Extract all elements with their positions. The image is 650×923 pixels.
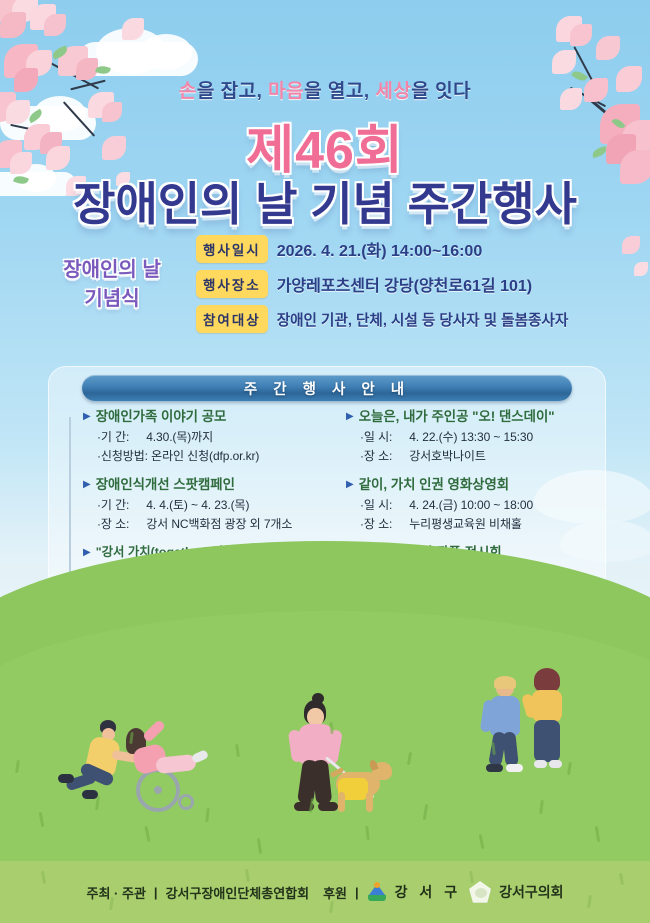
gangseo-council-logo-icon <box>469 881 491 903</box>
event-detail-value: 4. 22.(수) 13:30 ~ 15:30 <box>409 430 533 444</box>
page-title: 장애인의 날 기념 주간행사 <box>0 168 650 234</box>
event-title-row: ▶ 같이, 가치 인권 영화상영회 <box>346 477 595 494</box>
triangle-bullet-icon: ▶ <box>346 477 354 492</box>
footer-separator-2: | <box>355 885 359 900</box>
event-detail-key: ·신청방법: <box>97 447 148 464</box>
info-row-datetime: 행사일시 2026. 4. 21.(화) 14:00~16:00 <box>196 236 646 262</box>
event-item[interactable]: ▶ 장애인가족 이야기 공모 ·기 간: 4.30.(목)까지 ·신청방법: 온… <box>83 409 332 464</box>
gangseo-gu-logo-icon <box>367 882 387 902</box>
tagline-part-2: 을 잡고, <box>197 81 268 102</box>
event-title: 오늘은, 내가 주인공 "오! 댄스데이" <box>359 409 555 426</box>
event-detail-line: ·일 시: 4. 24.(금) 10:00 ~ 18:00 <box>360 496 595 513</box>
footer-sponsor-1: 강 서 구 <box>395 882 461 902</box>
event-detail-key: ·기 간: <box>97 428 143 445</box>
footer-sponsor-2: 강서구의회 <box>499 882 563 902</box>
tagline-part-6: 을 잇다 <box>411 81 471 102</box>
event-detail-value: 누리평생교육원 비채홀 <box>409 517 522 531</box>
footer-separator-1: | <box>154 885 158 900</box>
panel-header-text: 주 간 행 사 안 내 <box>244 378 410 399</box>
illustration-wheelchair-pair <box>60 710 220 830</box>
info-label-datetime: 행사일시 <box>196 235 268 263</box>
event-detail-value: 4. 24.(금) 10:00 ~ 18:00 <box>409 498 533 512</box>
ceremony-label-line1: 장애인의 날 <box>32 256 192 285</box>
tagline-part-5: 세상 <box>375 81 411 102</box>
triangle-bullet-icon: ▶ <box>83 477 91 492</box>
event-detail-value: 4.30.(목)까지 <box>146 430 213 444</box>
info-row-audience: 참여대상 장애인 기관, 단체, 시설 등 당사자 및 돌봄종사자 <box>196 306 646 332</box>
info-value-venue: 가양레포츠센터 강당(양천로61길 101) <box>277 272 532 296</box>
event-detail-value: 강서호박나이트 <box>409 449 486 463</box>
event-detail-key: ·일 시: <box>360 496 406 513</box>
event-item[interactable]: ▶ 같이, 가치 인권 영화상영회 ·일 시: 4. 24.(금) 10:00 … <box>346 477 595 532</box>
triangle-bullet-icon: ▶ <box>346 409 354 424</box>
illustration-guide-dog-walker <box>280 700 400 840</box>
event-detail-line: ·장 소: 강서 NC백화점 광장 외 7개소 <box>97 515 332 532</box>
footer-host-label: 주최 · 주관 <box>87 883 146 902</box>
footer-bar: 주최 · 주관 | 강서구장애인단체총연합회 후원 | 강 서 구 강서구의회 <box>0 861 650 923</box>
illustration-standing-person <box>524 672 584 782</box>
ceremony-label: 장애인의 날 기념식 <box>32 256 192 314</box>
event-item[interactable]: ▶ 오늘은, 내가 주인공 "오! 댄스데이" ·일 시: 4. 22.(수) … <box>346 409 595 464</box>
event-detail-line: ·기 간: 4. 4.(토) ~ 4. 23.(목) <box>97 496 332 513</box>
footer-credits: 주최 · 주관 | 강서구장애인단체총연합회 후원 | 강 서 구 강서구의회 <box>87 881 564 903</box>
event-detail-line: ·기 간: 4.30.(목)까지 <box>97 428 332 445</box>
panel-header-banner: 주 간 행 사 안 내 <box>82 375 572 401</box>
tagline: 손을 잡고, 마음을 열고, 세상을 잇다 <box>0 76 650 103</box>
event-title-row: ▶ 장애인가족 이야기 공모 <box>83 409 332 426</box>
tagline-part-1: 손 <box>179 81 197 102</box>
event-title: 장애인식개선 스팟캠페인 <box>96 477 235 494</box>
event-detail-key: ·장 소: <box>97 515 143 532</box>
event-detail-value: 강서 NC백화점 광장 외 7개소 <box>146 517 292 531</box>
event-detail-line: ·장 소: 강서호박나이트 <box>360 447 595 464</box>
event-detail-key: ·일 시: <box>360 428 406 445</box>
info-label-venue: 행사장소 <box>196 270 268 298</box>
event-detail-value: 온라인 신청(dfp.or.kr) <box>151 449 259 463</box>
triangle-bullet-icon: ▶ <box>83 545 91 560</box>
event-title-row: ▶ 오늘은, 내가 주인공 "오! 댄스데이" <box>346 409 595 426</box>
event-title: 같이, 가치 인권 영화상영회 <box>359 477 509 494</box>
event-detail-value: 4. 4.(토) ~ 4. 23.(목) <box>146 498 249 512</box>
ceremony-label-line2: 기념식 <box>32 285 192 314</box>
event-detail-line: ·장 소: 누리평생교육원 비채홀 <box>360 515 595 532</box>
event-item[interactable]: ▶ 장애인식개선 스팟캠페인 ·기 간: 4. 4.(토) ~ 4. 23.(목… <box>83 477 332 532</box>
tagline-part-3: 마음 <box>268 81 304 102</box>
event-detail-key: ·장 소: <box>360 447 406 464</box>
footer-sponsor-label: 후원 <box>323 883 347 902</box>
event-detail-key: ·기 간: <box>97 496 143 513</box>
event-info-list: 행사일시 2026. 4. 21.(화) 14:00~16:00 행사장소 가양… <box>196 236 646 341</box>
tagline-part-4: 을 열고, <box>304 81 375 102</box>
info-row-venue: 행사장소 가양레포츠센터 강당(양천로61길 101) <box>196 271 646 297</box>
info-value-datetime: 2026. 4. 21.(화) 14:00~16:00 <box>277 237 483 261</box>
event-detail-line: ·일 시: 4. 22.(수) 13:30 ~ 15:30 <box>360 428 595 445</box>
event-detail-line: ·신청방법: 온라인 신청(dfp.or.kr) <box>97 447 332 464</box>
triangle-bullet-icon: ▶ <box>83 409 91 424</box>
info-value-audience: 장애인 기관, 단체, 시설 등 당사자 및 돌봄종사자 <box>277 309 569 330</box>
event-detail-key: ·장 소: <box>360 515 406 532</box>
info-label-audience: 참여대상 <box>196 305 268 333</box>
event-title: 장애인가족 이야기 공모 <box>96 409 227 426</box>
footer-host-name: 강서구장애인단체총연합회 <box>166 883 310 902</box>
poster-root: 손을 잡고, 마음을 열고, 세상을 잇다 제46회 장애인의 날 기념 주간행… <box>0 0 650 923</box>
event-title-row: ▶ 장애인식개선 스팟캠페인 <box>83 477 332 494</box>
